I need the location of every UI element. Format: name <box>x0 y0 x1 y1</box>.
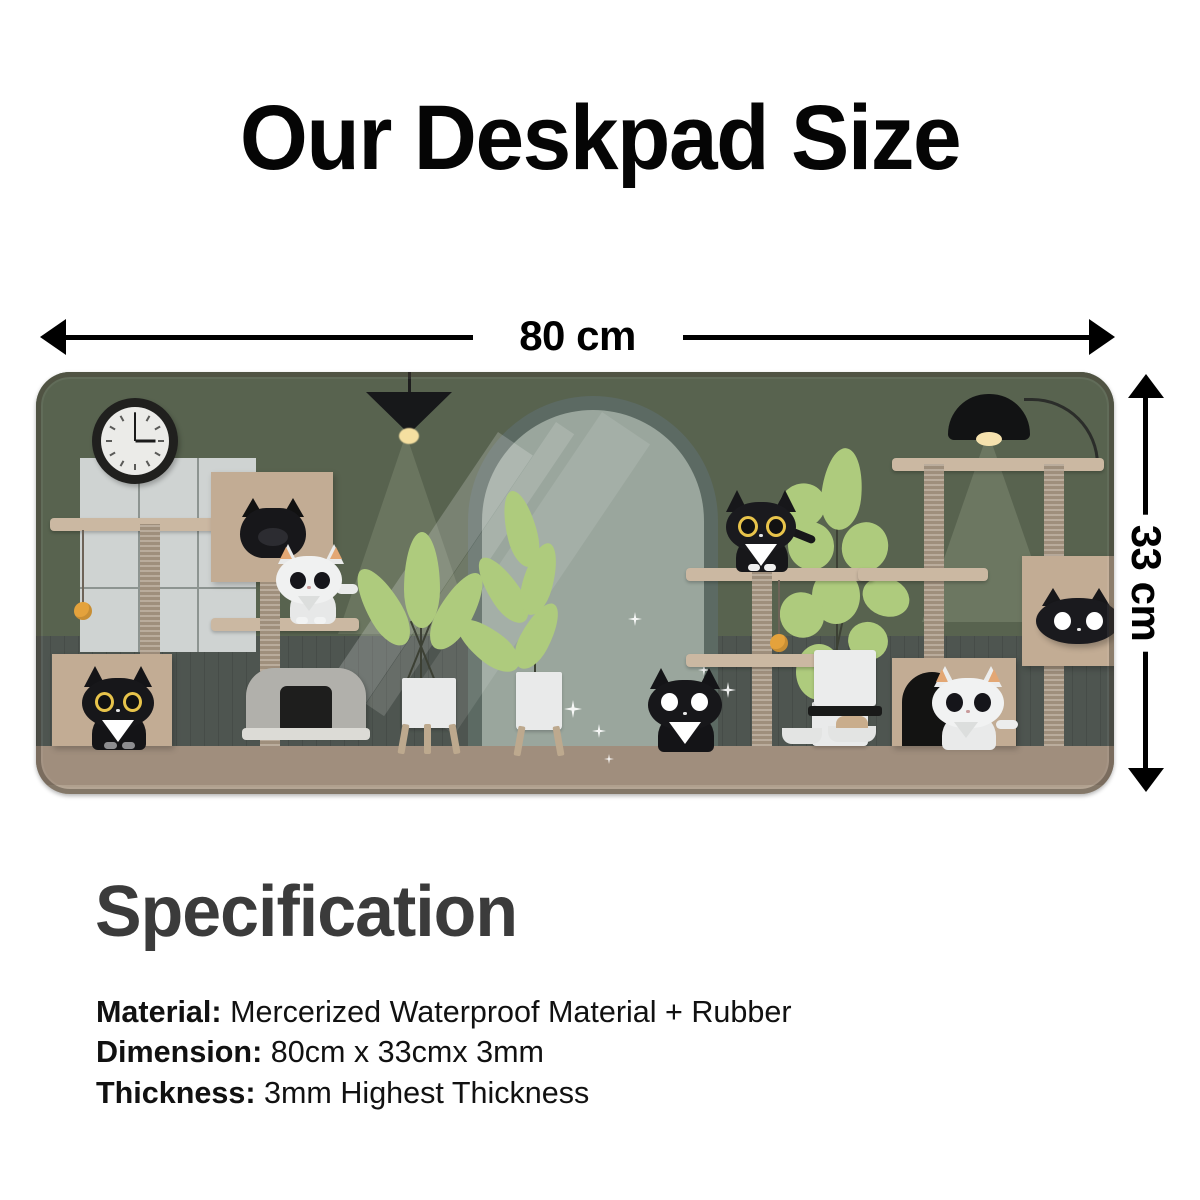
spec-value-thickness: 3mm Highest Thickness <box>264 1075 589 1110</box>
cat-shelf <box>686 654 832 667</box>
specification-list: Material: Mercerized Waterproof Material… <box>96 992 1126 1113</box>
spec-value-material: Mercerized Waterproof Material + Rubber <box>230 994 791 1029</box>
litter-box <box>246 668 366 734</box>
cat-eye <box>1054 612 1071 630</box>
clock-minute-hand <box>134 413 136 441</box>
cat-eye <box>766 516 786 537</box>
spec-label-dimension: Dimension: <box>96 1034 262 1069</box>
pendant-lamp <box>366 372 452 452</box>
wall-clock <box>92 398 178 484</box>
wooden-stool <box>398 724 460 754</box>
cat-eye <box>123 692 142 712</box>
dome-lamp <box>948 394 1030 452</box>
lamp-cord <box>408 372 411 394</box>
cat-eye <box>1086 612 1103 630</box>
product-infographic: Our Deskpad Size 80 cm 33 cm <box>0 0 1200 1200</box>
arrow-down-icon <box>1128 768 1164 792</box>
arrow-up-icon <box>1128 374 1164 398</box>
cat-eye <box>738 516 758 537</box>
toy-string <box>778 580 780 638</box>
pet-feeder <box>814 650 876 706</box>
black-cat-in-box-left <box>82 666 156 748</box>
food-bowl <box>782 728 822 744</box>
spec-row-dimension: Dimension: 80cm x 33cmx 3mm <box>96 1032 1111 1072</box>
spec-label-thickness: Thickness: <box>96 1075 256 1110</box>
specification-heading: Specification <box>95 876 517 948</box>
spec-row-material: Material: Mercerized Waterproof Material… <box>96 992 1111 1032</box>
cat-eye <box>974 693 991 712</box>
wooden-stool <box>514 726 564 754</box>
toy-string <box>82 530 84 604</box>
black-cat-peeking-box-right <box>1036 588 1114 644</box>
deskpad-product-image <box>36 372 1114 794</box>
cat-shelf <box>50 518 226 531</box>
hanging-toy-ball <box>770 634 788 652</box>
white-cat-in-box-right <box>930 666 1008 748</box>
height-label: 33 cm <box>1116 515 1176 652</box>
clock-hour-hand <box>135 440 155 443</box>
cat-eye <box>946 693 963 712</box>
spec-row-thickness: Thickness: 3mm Highest Thickness <box>96 1073 1111 1113</box>
spec-value-dimension: 80cm x 33cmx 3mm <box>271 1034 544 1069</box>
black-cat-on-floor <box>648 668 724 748</box>
cat-eye <box>95 692 114 712</box>
plant-pot <box>516 672 562 730</box>
food-bowl <box>828 726 876 742</box>
cat-eye <box>691 693 708 711</box>
lamp-glow <box>976 432 1002 446</box>
clock-face <box>101 407 169 475</box>
cat-eye <box>661 693 678 711</box>
lamp-bulb <box>399 428 419 444</box>
white-cat-on-shelf <box>274 544 350 622</box>
arrow-left-icon <box>40 319 66 355</box>
spec-label-material: Material: <box>96 994 222 1029</box>
plant-pot <box>402 678 456 728</box>
black-cat-on-shelf <box>726 490 798 570</box>
litter-box-base <box>242 728 370 740</box>
width-dimension: 80 cm <box>40 316 1115 356</box>
feeder-stand <box>808 706 882 716</box>
litter-box-entrance <box>280 686 332 734</box>
width-label: 80 cm <box>473 306 683 366</box>
food-kibble <box>836 716 868 728</box>
page-title: Our Deskpad Size <box>30 92 1170 184</box>
height-dimension: 33 cm <box>1126 374 1166 792</box>
floor <box>36 746 1114 794</box>
hanging-toy-ball <box>74 602 92 620</box>
arrow-right-icon <box>1089 319 1115 355</box>
deskpad-artwork <box>36 372 1114 794</box>
cat-shelf <box>858 568 988 581</box>
